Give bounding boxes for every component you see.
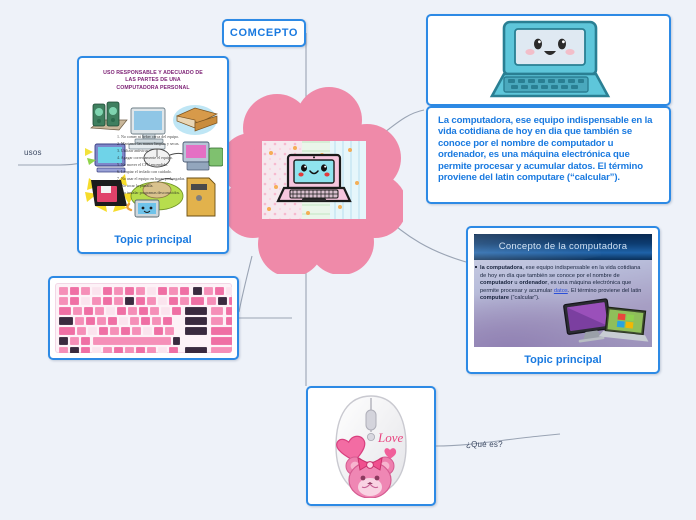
node-keyboard-image[interactable] bbox=[48, 276, 239, 360]
svg-text:4. Apagar correctamente el equ: 4. Apagar correctamente el equipo. bbox=[117, 155, 173, 160]
node-caption: Topic principal bbox=[79, 234, 227, 246]
node-slide-card[interactable]: Concepto de la computadora la computador… bbox=[466, 226, 660, 374]
svg-text:9. No instalar programas desco: 9. No instalar programas desconocidos. bbox=[117, 190, 180, 195]
slide-computers-image bbox=[562, 297, 650, 345]
svg-text:1. No comer ni beber cerca del: 1. No comer ni beber cerca del equipo. bbox=[117, 134, 179, 139]
node-mouse-image[interactable]: Love bbox=[306, 386, 436, 506]
svg-text:7. No usar el equipo en horas: 7. No usar el equipo en horas prolongada… bbox=[117, 176, 185, 181]
edge-label-usos: usos bbox=[24, 148, 42, 157]
bullet-icon bbox=[475, 266, 477, 268]
svg-text:5. No mover el CPU encendido.: 5. No mover el CPU encendido. bbox=[117, 162, 168, 167]
poster-uso-responsable: USO RESPONSABLE Y ADECUADO DE LAS PARTES… bbox=[83, 64, 223, 222]
svg-text:6. Limpiar el teclado con cuid: 6. Limpiar el teclado con cuidado. bbox=[117, 169, 172, 174]
node-caption: Topic principal bbox=[468, 354, 658, 366]
powerpoint-slide: Concepto de la computadora la computador… bbox=[474, 234, 652, 347]
mindmap-canvas: COMCEPTO USO RESPONSABLE Y ADECUADO DE L… bbox=[0, 0, 696, 520]
node-definition-text[interactable]: La computadora, ese equipo indispensable… bbox=[426, 106, 671, 204]
definition-paragraph: La computadora, ese equipo indispensable… bbox=[438, 115, 661, 183]
node-uso-responsable[interactable]: USO RESPONSABLE Y ADECUADO DE LAS PARTES… bbox=[77, 56, 229, 254]
root-title-label: COMCEPTO bbox=[230, 27, 298, 39]
teddy-mouse-icon: Love bbox=[328, 394, 414, 498]
edge-label-que-es: ¿Qué es? bbox=[466, 440, 503, 449]
slide-title: Concepto de la computadora bbox=[474, 234, 652, 260]
root-title-node[interactable]: COMCEPTO bbox=[222, 19, 306, 47]
central-laptop-image bbox=[262, 141, 366, 219]
svg-text:8. No tocar la pantalla.: 8. No tocar la pantalla. bbox=[117, 183, 153, 188]
pink-keyboard bbox=[55, 283, 232, 353]
datos-link[interactable]: datos bbox=[554, 288, 568, 294]
poster-clipart: 1. No comer ni beber cerca del equipo. 2… bbox=[83, 92, 223, 220]
node-laptop-illustration[interactable] bbox=[426, 14, 671, 106]
svg-text:3. Utilizar antivirus.: 3. Utilizar antivirus. bbox=[117, 148, 149, 153]
laptop-teal-icon bbox=[428, 16, 669, 104]
mouse-illustration: Love bbox=[308, 388, 434, 504]
poster-title: USO RESPONSABLE Y ADECUADO DE LAS PARTES… bbox=[83, 64, 223, 92]
love-text: Love bbox=[377, 430, 404, 445]
svg-text:2. Mantener las manos limpias: 2. Mantener las manos limpias y secas. bbox=[117, 141, 179, 146]
